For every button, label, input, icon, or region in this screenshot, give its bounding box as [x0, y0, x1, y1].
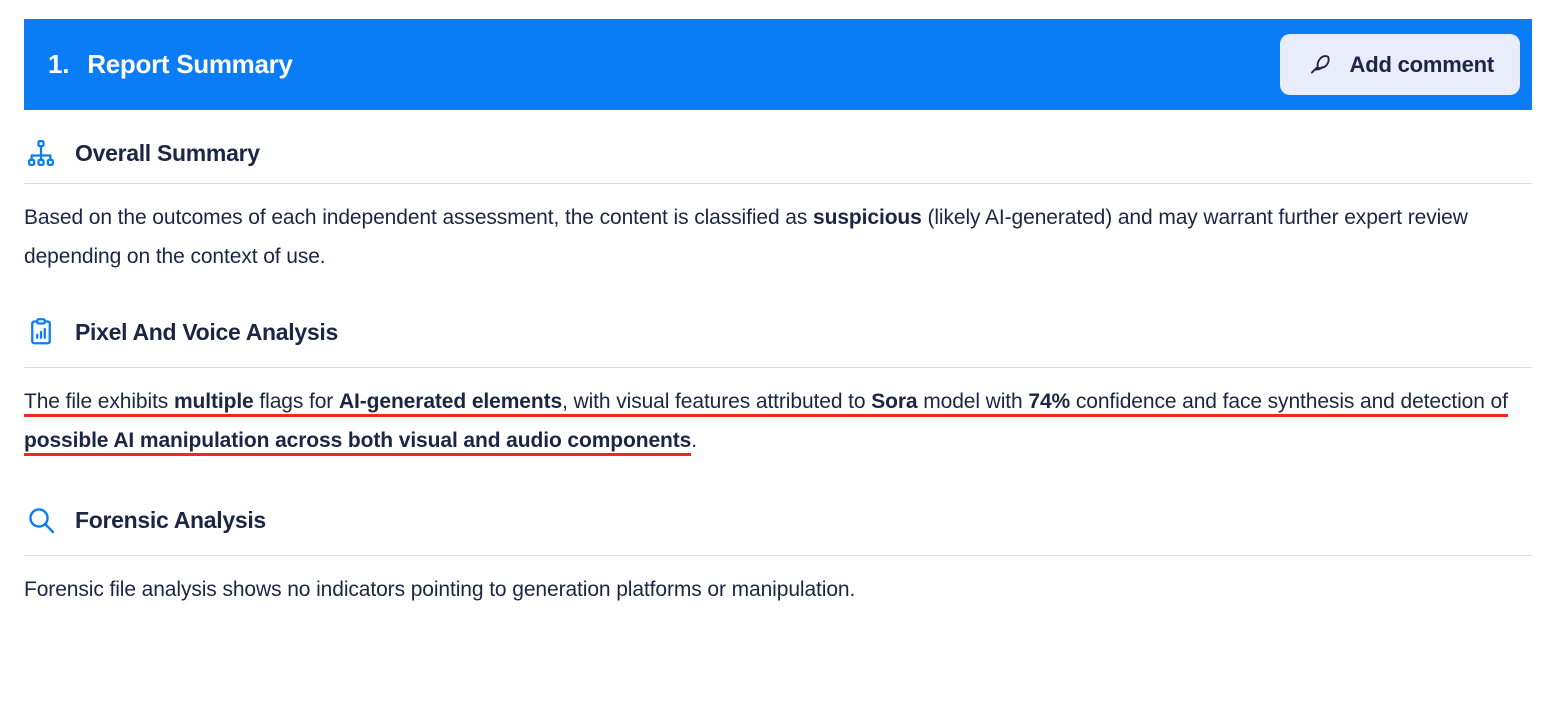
flagged-text: AI-generated elements: [339, 390, 562, 417]
report-content: Overall Summary Based on the outcomes of…: [24, 110, 1532, 609]
flagged-text: Sora: [871, 390, 917, 417]
section-number: 1.: [48, 49, 69, 80]
block-body-overall-summary: Based on the outcomes of each independen…: [24, 184, 1532, 276]
flagged-text: model with: [918, 390, 1029, 417]
flagged-text: The file exhibits: [24, 390, 174, 417]
block-title-overall-summary: Overall Summary: [75, 140, 260, 167]
block-body-forensic-analysis: Forensic file analysis shows no indicato…: [24, 556, 1532, 609]
block-forensic-analysis: Forensic Analysis Forensic file analysis…: [24, 482, 1532, 609]
magnifier-icon: [24, 503, 58, 537]
sitemap-icon: [24, 136, 58, 170]
block-header-overall-summary: Overall Summary: [24, 110, 1532, 166]
block-overall-summary: Overall Summary Based on the outcomes of…: [24, 110, 1532, 276]
clipboard-chart-icon: [24, 315, 58, 349]
flagged-text: flags for: [254, 390, 339, 417]
flagged-text: confidence and face synthesis and detect…: [1070, 390, 1508, 417]
block-title-pixel-and-voice-analysis: Pixel And Voice Analysis: [75, 319, 338, 346]
flagged-text: possible AI manipulation across both vis…: [24, 429, 691, 456]
block-body-pixel-and-voice-analysis: The file exhibits multiple flags for AI-…: [24, 368, 1532, 460]
block-header-pixel-and-voice-analysis: Pixel And Voice Analysis: [24, 294, 1532, 350]
report-summary-page: 1. Report Summary Add comment: [0, 0, 1556, 702]
section-header-bar: 1. Report Summary Add comment: [24, 19, 1532, 110]
add-comment-button[interactable]: Add comment: [1280, 34, 1520, 95]
feather-icon: [1306, 51, 1334, 79]
section-header-title-group: 1. Report Summary: [48, 49, 293, 80]
flagged-text: 74%: [1028, 390, 1070, 417]
block-header-forensic-analysis: Forensic Analysis: [24, 482, 1532, 538]
add-comment-label: Add comment: [1350, 52, 1494, 78]
page-title: Report Summary: [87, 49, 292, 80]
block-title-forensic-analysis: Forensic Analysis: [75, 507, 266, 534]
flagged-text: , with visual features attributed to: [562, 390, 871, 417]
flagged-text: multiple: [174, 390, 254, 417]
block-pixel-and-voice-analysis: Pixel And Voice Analysis The file exhibi…: [24, 294, 1532, 460]
